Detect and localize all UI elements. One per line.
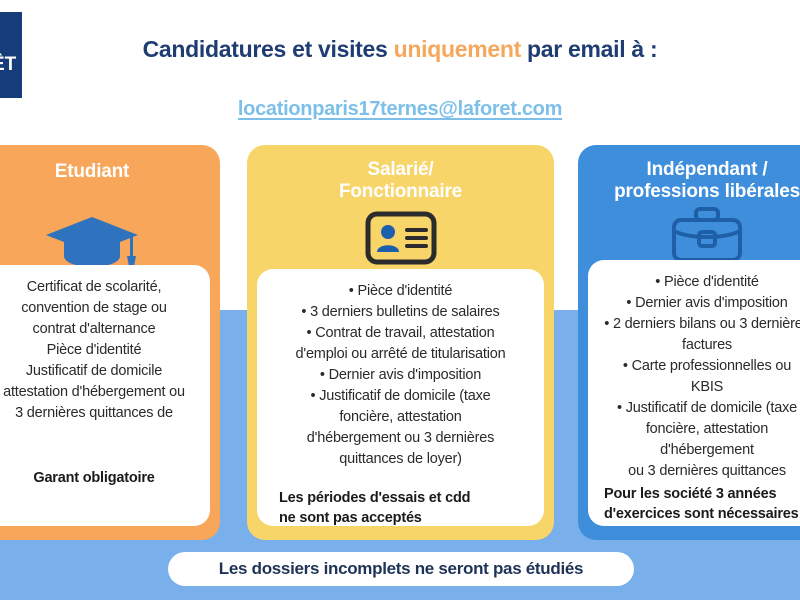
list-item: Pièce d'identité: [0, 340, 202, 361]
card-independant-list: • Pièce d'identité • Dernier avis d'impo…: [598, 272, 800, 482]
list-item: Certificat de scolarité,: [0, 277, 202, 298]
list-item: 3 dernières quittances de: [0, 403, 202, 424]
list-item: factures: [598, 335, 800, 356]
list-item: • Dernier avis d'imposition: [267, 365, 534, 386]
list-item: foncière, attestation d'hébergement: [598, 419, 800, 461]
list-item: foncière, attestation: [267, 407, 534, 428]
list-item: • 3 derniers bulletins de salaires: [267, 302, 534, 323]
card-salarie-note: Les périodes d'essais et cddne sont pas …: [267, 488, 534, 526]
card-salarie-title: Salarié/Fonctionnaire: [247, 159, 554, 203]
graduation-cap-icon: [0, 211, 220, 273]
list-item: contrat d'alternance: [0, 319, 202, 340]
list-item: • Justificatif de domicile (taxe: [598, 398, 800, 419]
list-item: convention de stage ou: [0, 298, 202, 319]
list-item: quittances de loyer): [267, 449, 534, 470]
list-item: • Justificatif de domicile (taxe: [267, 386, 534, 407]
id-card-icon: [247, 207, 554, 269]
page-title: Candidatures et visites uniquement par e…: [0, 36, 800, 63]
card-salarie-fonctionnaire: Salarié/Fonctionnaire • Pièce d'identité…: [247, 145, 554, 540]
card-etudiant-note: Garant obligatoire: [0, 468, 202, 488]
card-etudiant-panel: Certificat de scolarité, convention de s…: [0, 265, 210, 526]
list-item: attestation d'hébergement ou: [0, 382, 202, 403]
list-item: • Dernier avis d'imposition: [598, 293, 800, 314]
list-item: KBIS: [598, 377, 800, 398]
card-salarie-panel: • Pièce d'identité • 3 derniers bulletin…: [257, 269, 544, 526]
list-item: • 2 derniers bilans ou 3 dernières: [598, 314, 800, 335]
card-independant-panel: • Pièce d'identité • Dernier avis d'impo…: [588, 260, 800, 526]
card-etudiant-title: Etudiant: [0, 161, 220, 183]
card-independant-title: Indépendant /professions libérales: [578, 159, 800, 203]
card-etudiant-list: Certificat de scolarité, convention de s…: [0, 277, 202, 424]
list-item: d'hébergement ou 3 dernières: [267, 428, 534, 449]
list-item: • Pièce d'identité: [598, 272, 800, 293]
list-item: • Carte professionnelles ou: [598, 356, 800, 377]
list-item: d'emploi ou arrêté de titularisation: [267, 344, 534, 365]
card-salarie-list: • Pièce d'identité • 3 derniers bulletin…: [267, 281, 534, 470]
card-independant: Indépendant /professions libérales • Piè…: [578, 145, 800, 540]
list-item: Justificatif de domicile: [0, 361, 202, 382]
list-item: • Pièce d'identité: [267, 281, 534, 302]
bottom-banner: Les dossiers incomplets ne seront pas ét…: [168, 552, 634, 586]
contact-email-link[interactable]: locationparis17ternes@laforet.com: [0, 98, 800, 121]
list-item: ou 3 dernières quittances: [598, 461, 800, 482]
bottom-banner-text: Les dossiers incomplets ne seront pas ét…: [219, 559, 583, 579]
card-independant-note: Pour les société 3 annéesd'exercices son…: [598, 484, 800, 524]
page-title-highlight: uniquement: [394, 36, 521, 62]
briefcase-icon: [578, 203, 800, 265]
page-title-part1: Candidatures et visites: [143, 36, 394, 62]
card-etudiant: Etudiant Certificat de scolarité, conven…: [0, 145, 220, 540]
list-item: • Contrat de travail, attestation: [267, 323, 534, 344]
page-title-part2: par email à :: [521, 36, 657, 62]
